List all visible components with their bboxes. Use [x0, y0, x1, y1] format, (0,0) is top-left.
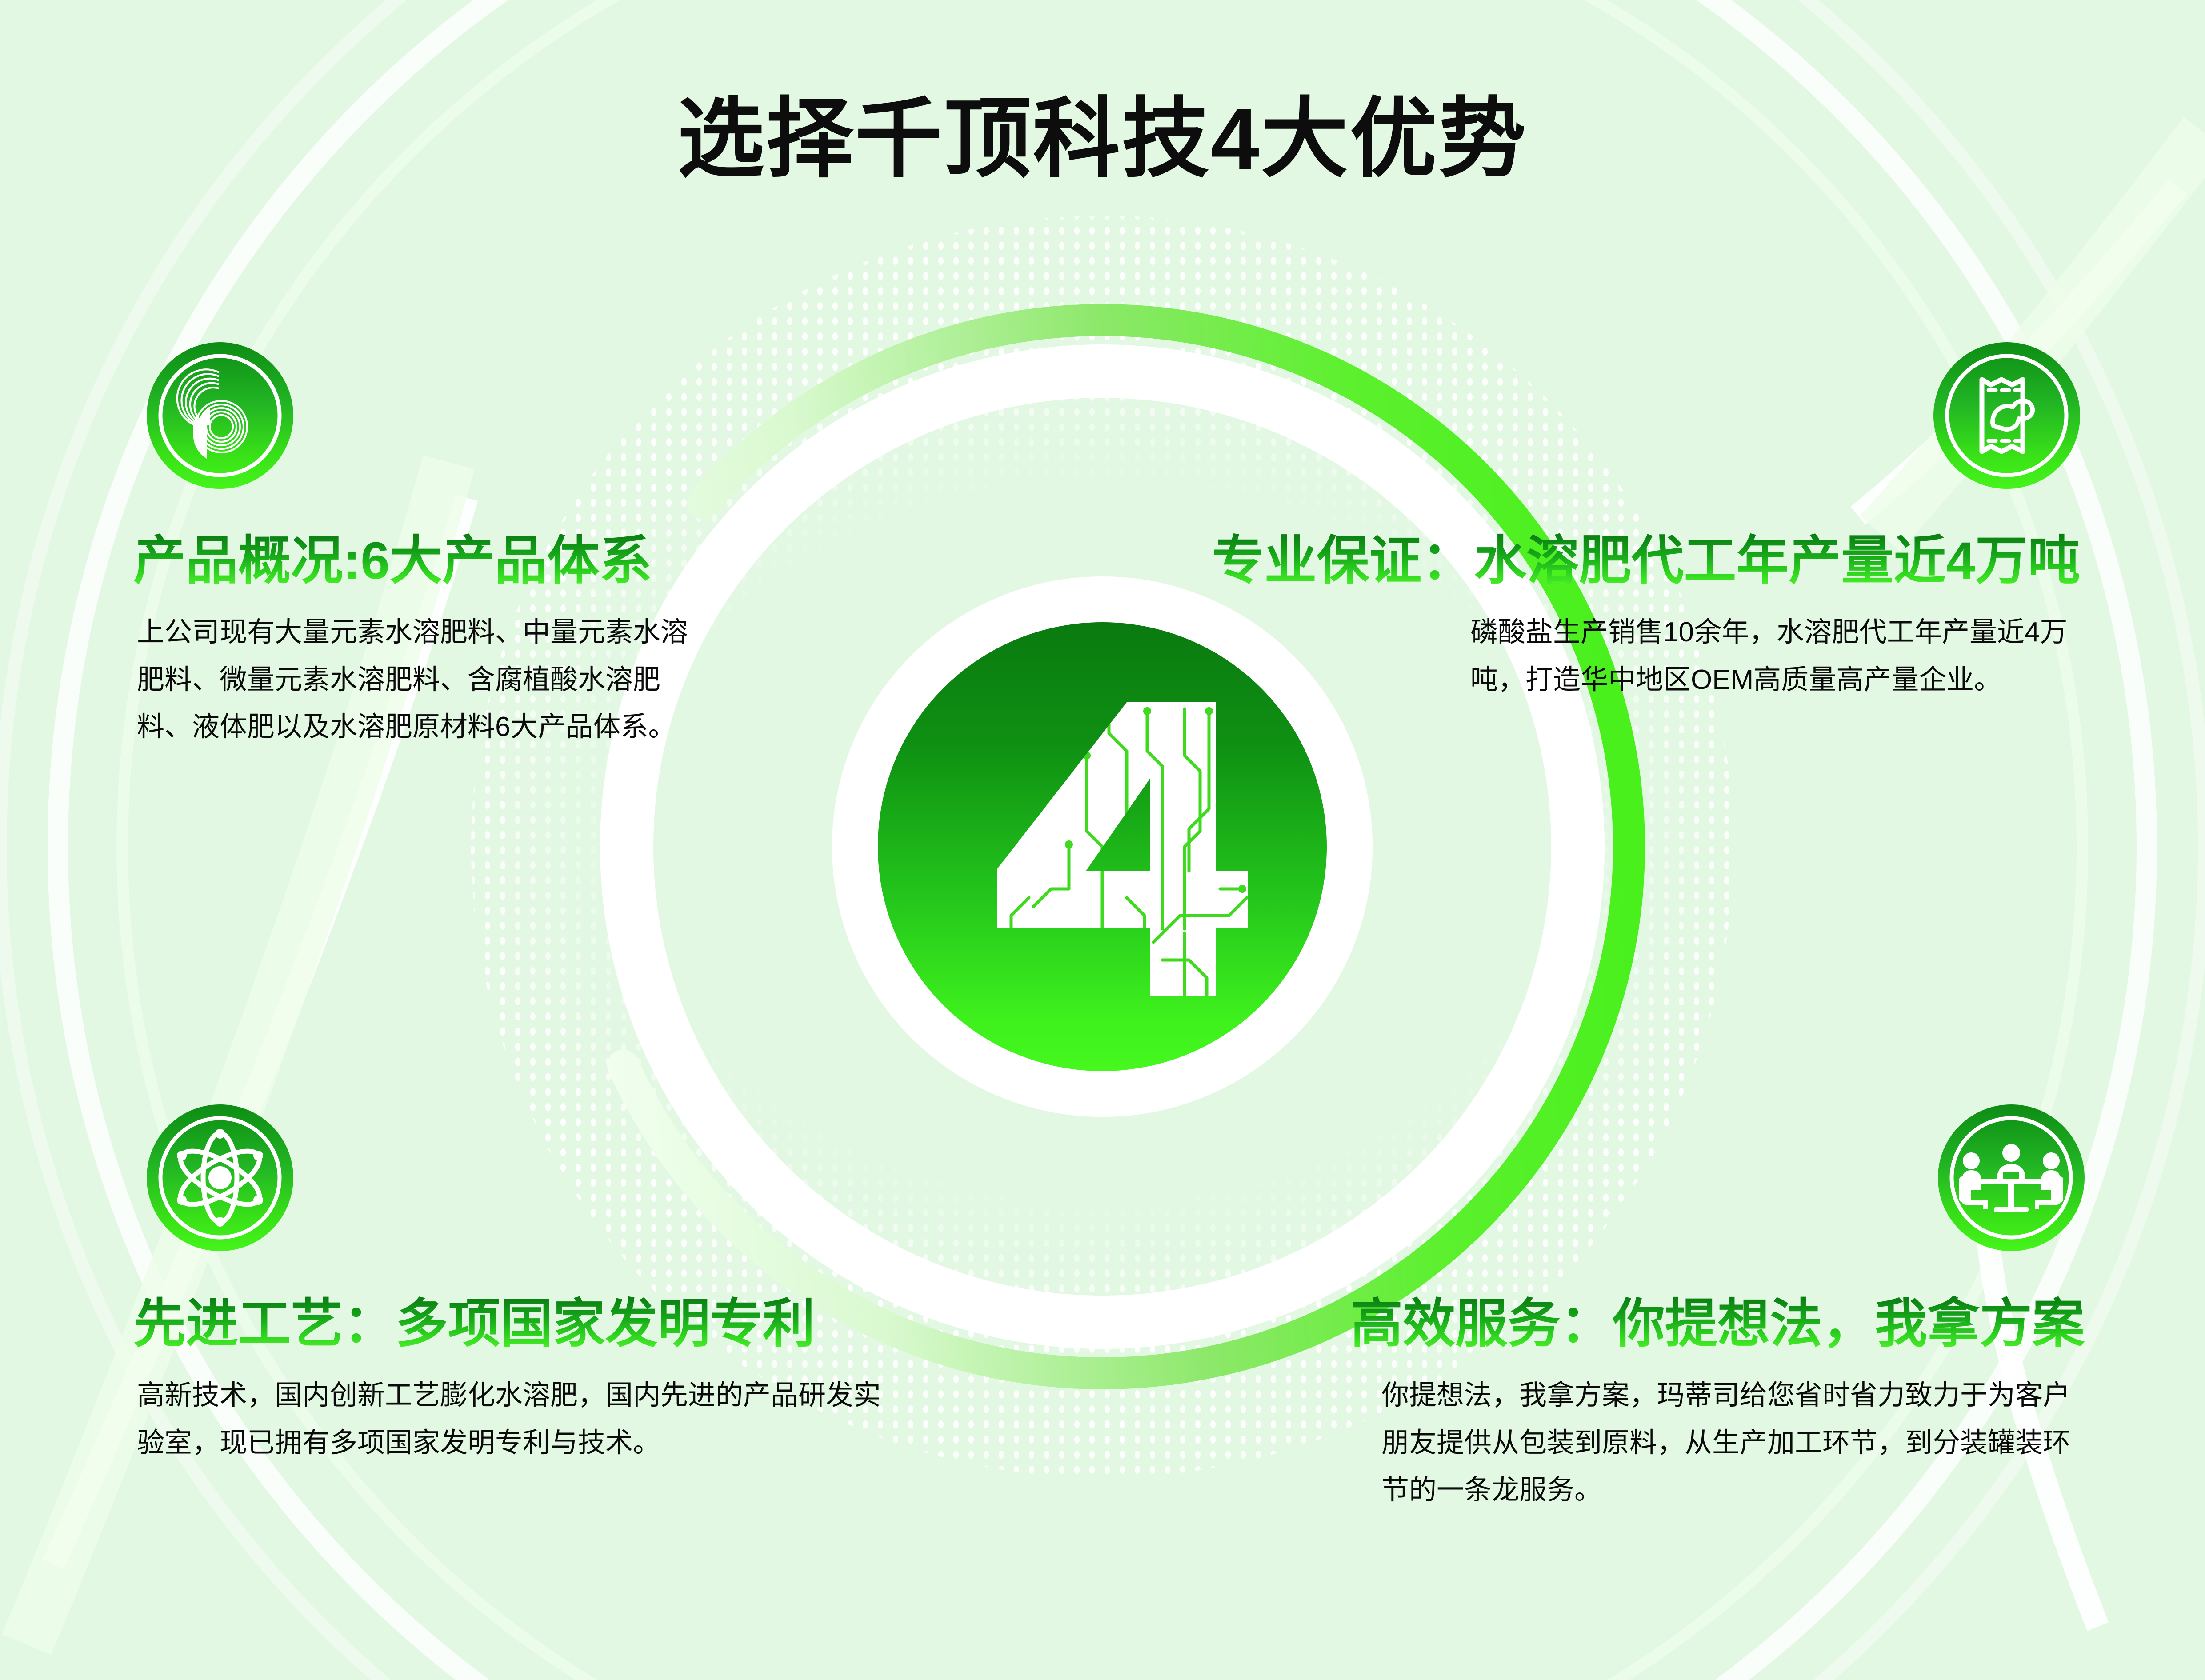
icon-wrap-bottom-right: [1938, 1104, 2085, 1251]
advantage-heading-bottom-right: 高效服务：你提想法，我拿方案: [1350, 1296, 2085, 1352]
advantage-body-top-right: 磷酸盐生产销售10余年，水溶肥代工年产量近4万吨，打造华中地区OEM高质量高产量…: [1470, 609, 2079, 704]
center-medallion: [858, 602, 1347, 1091]
advantage-heading-top-right: 专业保证：水溶肥代工年产量近4万吨: [1212, 533, 2080, 589]
advantage-body-bottom-left: 高新技术，国内创新工艺膨化水溶肥，国内先进的产品研发实验室，现已拥有多项国家发明…: [137, 1372, 892, 1467]
center-number-four-icon: [878, 622, 1327, 1071]
atom-icon: [147, 1104, 293, 1251]
advantage-heading-bottom-left: 先进工艺：多项国家发明专利: [133, 1296, 815, 1352]
advantage-body-bottom-right: 你提想法，我拿方案，玛蒂司给您省时省力致力于为客户朋友提供从包装到原料，从生产加…: [1381, 1372, 2084, 1514]
fertilizer-bag-icon: [1933, 342, 2080, 489]
meeting-people-icon: [1938, 1104, 2085, 1251]
page-title: 选择千顶科技4大优势: [0, 96, 2205, 183]
icon-wrap-top-right: [1933, 342, 2080, 489]
advantage-heading-top-left: 产品概况:6大产品体系: [133, 533, 652, 589]
icon-wrap-top-left: [147, 342, 293, 489]
advantage-body-top-left: 上公司现有大量元素水溶肥料、中量元素水溶肥料、微量元素水溶肥料、含腐植酸水溶肥料…: [137, 609, 701, 751]
infographic-stage: 选择千顶科技4大优势: [0, 0, 2205, 1680]
icon-wrap-bottom-left: [147, 1104, 293, 1251]
number-six-badge-icon: [147, 342, 293, 489]
